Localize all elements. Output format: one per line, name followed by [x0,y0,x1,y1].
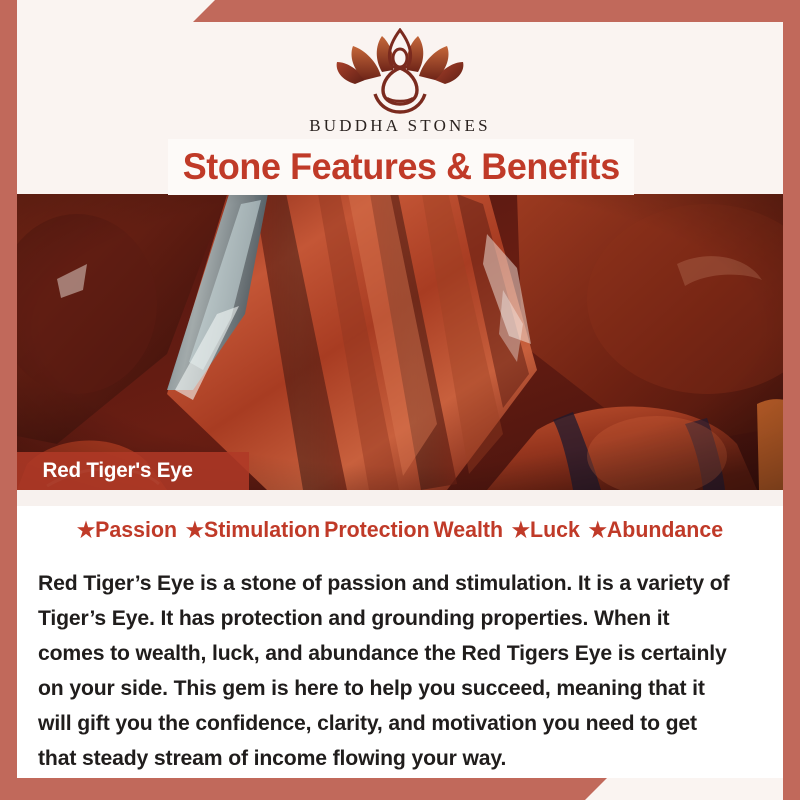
stone-name-label: Red Tiger's Eye [17,452,249,490]
frame-bottom-accent [0,778,800,800]
frame-left-accent [0,0,17,800]
brand-wordmark: BUDDHA STONES [309,116,491,136]
benefit-keyword: Luck [530,517,580,542]
benefit-keyword: Wealth [433,517,503,542]
stone-name-text: Red Tiger's Eye [43,459,193,483]
star-icon: ★ [589,519,607,542]
frame-top-accent [0,0,800,22]
star-icon: ★ [186,519,204,542]
content-panel: ★Passion★Stimulation Protection Wealth★L… [17,490,783,778]
frame-right-accent [783,0,800,800]
description-paragraph: Red Tiger’s Eye is a stone of passion an… [38,566,739,776]
product-infographic-poster: BUDDHA STONES Stone Features & Benefits [0,0,800,800]
lotus-meditation-figure-icon [325,28,475,114]
star-icon: ★ [77,519,95,542]
stone-photo [17,194,783,490]
title-banner: Stone Features & Benefits [168,139,634,195]
star-icon: ★ [512,519,530,542]
benefit-keyword: Passion [95,517,177,542]
stone-photo-illustration [17,194,783,490]
page-title: Stone Features & Benefits [182,146,619,188]
benefit-keyword: Protection [324,517,430,542]
benefit-keyword: Stimulation [204,517,320,542]
benefit-keyword: Abundance [607,517,723,542]
benefit-keywords: ★Passion★Stimulation Protection Wealth★L… [28,517,771,543]
content-top-fade [17,490,783,506]
